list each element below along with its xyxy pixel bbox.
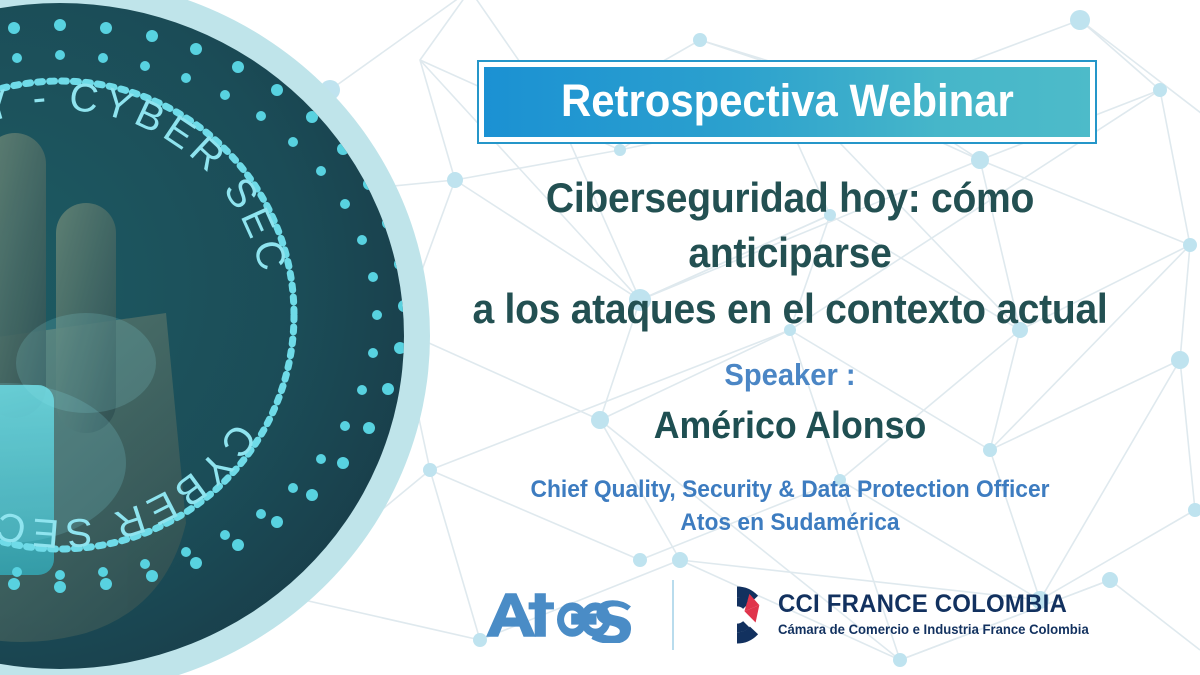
speaker-label: Speaker : [461,358,1119,392]
speaker-role-line-2: Atos en Sudamérica [458,507,1123,539]
banner-title: Retrospectiva Webinar [561,78,1014,127]
speaker-role-block: Chief Quality, Security & Data Protectio… [440,474,1140,539]
content-block: Ciberseguridad hoy: cómo anticiparse a l… [440,170,1140,539]
cci-france-colombia-logo: CCI FRANCE COLOMBIA Cámara de Comercio e… [706,584,1098,646]
seal-text-bottom: CYBER SECURITY [0,416,264,556]
headline-line-1: Ciberseguridad hoy: cómo anticiparse [465,170,1116,281]
banner-fill: Retrospectiva Webinar [484,67,1090,137]
cyber-security-image: SECURITY - CYBER SEC CYBER SECURITY [0,0,450,675]
logo-divider [672,580,674,650]
cci-title: CCI FRANCE COLOMBIA [778,591,1086,617]
webinar-banner: Retrospectiva Webinar [477,60,1097,144]
speaker-name: Américo Alonso [461,406,1119,448]
cci-subtitle: Cámara de Comercio e Industria France Co… [778,623,1089,638]
webinar-slide: SECURITY - CYBER SEC CYBER SECURITY Retr… [0,0,1200,675]
cci-mark-icon [706,584,768,646]
seal-disc: SECURITY - CYBER SEC CYBER SECURITY [0,3,404,669]
seal-text-top: SECURITY - CYBER SEC [0,75,296,280]
logo-row: CCI FRANCE COLOMBIA Cámara de Comercio e… [440,572,1140,657]
cci-text-wrap: CCI FRANCE COLOMBIA Cámara de Comercio e… [778,591,1098,637]
speaker-role-line-1: Chief Quality, Security & Data Protectio… [458,474,1123,506]
atos-logo [482,587,634,643]
seal-curved-text: SECURITY - CYBER SEC CYBER SECURITY [0,3,404,669]
headline-line-2: a los ataques en el contexto actual [465,281,1116,336]
cyber-security-seal: SECURITY - CYBER SEC CYBER SECURITY [0,0,430,675]
